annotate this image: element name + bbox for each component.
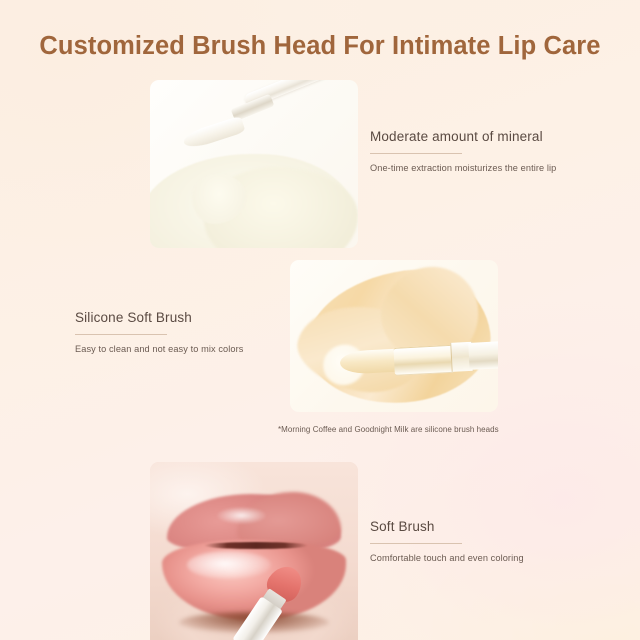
feature-image-mineral: [150, 80, 358, 248]
feature-heading: Silicone Soft Brush: [75, 310, 243, 325]
feature-divider: [370, 153, 462, 154]
feature-subtext: One-time extraction moisturizes the enti…: [370, 163, 556, 173]
feature-block-mineral: Moderate amount of mineral One-time extr…: [370, 129, 556, 173]
feature-heading: Moderate amount of mineral: [370, 129, 556, 144]
feature-divider: [370, 543, 462, 544]
product-feature-page: Customized Brush Head For Intimate Lip C…: [0, 0, 640, 640]
page-title: Customized Brush Head For Intimate Lip C…: [0, 32, 640, 61]
feature-heading: Soft Brush: [370, 519, 524, 534]
wand-handle: [468, 340, 498, 370]
wand-brush-tip: [182, 116, 247, 151]
feature-block-soft-brush: Soft Brush Comfortable touch and even co…: [370, 519, 524, 563]
white-brush-wand: [187, 90, 358, 174]
feature-subtext: Easy to clean and not easy to mix colors: [75, 344, 243, 354]
feature-block-silicone: Silicone Soft Brush Easy to clean and no…: [75, 310, 243, 354]
silicone-brush-footnote: *Morning Coffee and Goodnight Milk are s…: [278, 425, 499, 434]
lip-gloss-highlight: [187, 551, 270, 579]
feature-divider: [75, 334, 167, 335]
feature-image-soft-brush: [150, 462, 358, 640]
feature-image-silicone: [290, 260, 498, 412]
wand-shaft: [393, 344, 455, 375]
feature-subtext: Comfortable touch and even coloring: [370, 553, 524, 563]
wand-brush-tip: [339, 349, 401, 375]
